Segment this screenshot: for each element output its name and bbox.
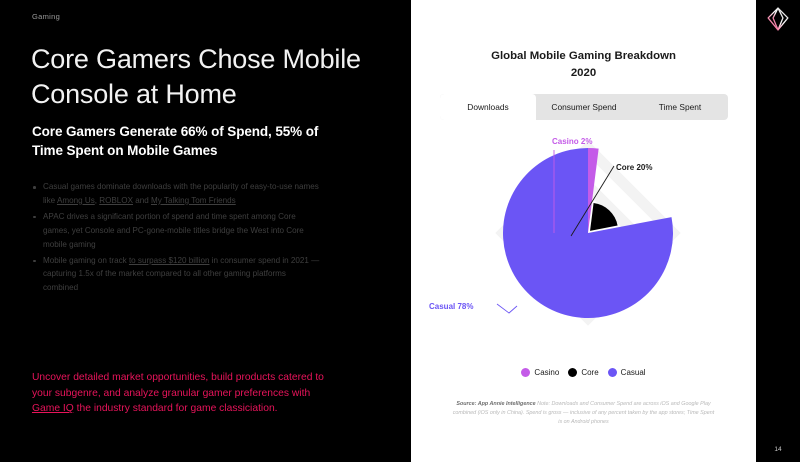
legend-label: Core [581,368,598,377]
chart-panel: Global Mobile Gaming Breakdown 2020 Down… [411,0,756,462]
page-subtitle: Core Gamers Generate 66% of Spend, 55% o… [32,122,352,160]
legend-swatch-casino-icon [521,368,530,377]
pie-slice-casual[interactable] [503,148,673,318]
tab-time-spent[interactable]: Time Spent [632,94,728,120]
inline-link[interactable]: Among Us [57,196,95,205]
tab-downloads[interactable]: Downloads [440,94,536,120]
pie-label-casual: Casual 78% [429,302,473,311]
tab-consumer-spend[interactable]: Consumer Spend [536,94,632,120]
right-rail: STATE OF MOBILE 2021 14 [756,0,800,462]
chart-legend: CasinoCoreCasual [411,368,756,377]
bullet-item: APAC drives a significant portion of spe… [32,210,322,252]
page-number: 14 [756,446,800,453]
inline-link[interactable]: ROBLOX [99,196,133,205]
bullet-item: Casual games dominate downloads with the… [32,180,322,208]
chart-tab-bar[interactable]: DownloadsConsumer SpendTime Spent [440,94,728,120]
left-content-panel: Gaming Core Gamers Chose Mobile Console … [0,0,411,462]
bullet-list: Casual games dominate downloads with the… [32,180,322,297]
legend-swatch-core-icon [568,368,577,377]
inline-link[interactable]: to surpass $120 billion [129,256,210,265]
legend-item-core[interactable]: Core [568,368,598,377]
inline-text: APAC drives a significant portion of spe… [43,212,304,249]
legend-swatch-casual-icon [608,368,617,377]
pie-label-casino: Casino 2% [552,137,592,146]
pie-chart: Casino 2%Core 20%Casual 78% [411,128,756,358]
inline-text: Mobile gaming on track [43,256,129,265]
inline-text: Uncover detailed market opportunities, b… [32,372,324,399]
legend-item-casino[interactable]: Casino [521,368,559,377]
inline-text: and [133,196,151,205]
slide-root: Gaming Core Gamers Chose Mobile Console … [0,0,800,462]
section-eyebrow: Gaming [32,12,60,21]
diamond-logo-icon [765,6,791,32]
source-note: Source: App Annie Intelligence Note: Dow… [451,400,716,427]
inline-link[interactable]: My Talking Tom Friends [151,196,236,205]
pie-label-core: Core 20% [616,163,652,172]
pie-chart-svg: Casino 2%Core 20%Casual 78% [411,128,756,358]
chart-title-line1: Global Mobile Gaming Breakdown [411,48,756,65]
inline-text: the industry standard for game classicia… [74,403,278,414]
cta-text: Uncover detailed market opportunities, b… [32,370,332,417]
source-note-bold: Source: App Annie Intelligence [456,401,535,407]
bullet-item: Mobile gaming on track to surpass $120 b… [32,254,322,296]
page-title: Core Gamers Chose Mobile Console at Home [31,42,391,111]
rail-label: STATE OF MOBILE 2021 [770,180,800,275]
legend-label: Casual [621,368,646,377]
pie-slices [503,148,673,318]
inline-link[interactable]: Game IQ [32,403,74,414]
leader-line-casual [497,304,517,313]
legend-item-casual[interactable]: Casual [608,368,646,377]
chart-title: Global Mobile Gaming Breakdown 2020 [411,48,756,81]
chart-title-line2: 2020 [411,65,756,82]
legend-label: Casino [534,368,559,377]
